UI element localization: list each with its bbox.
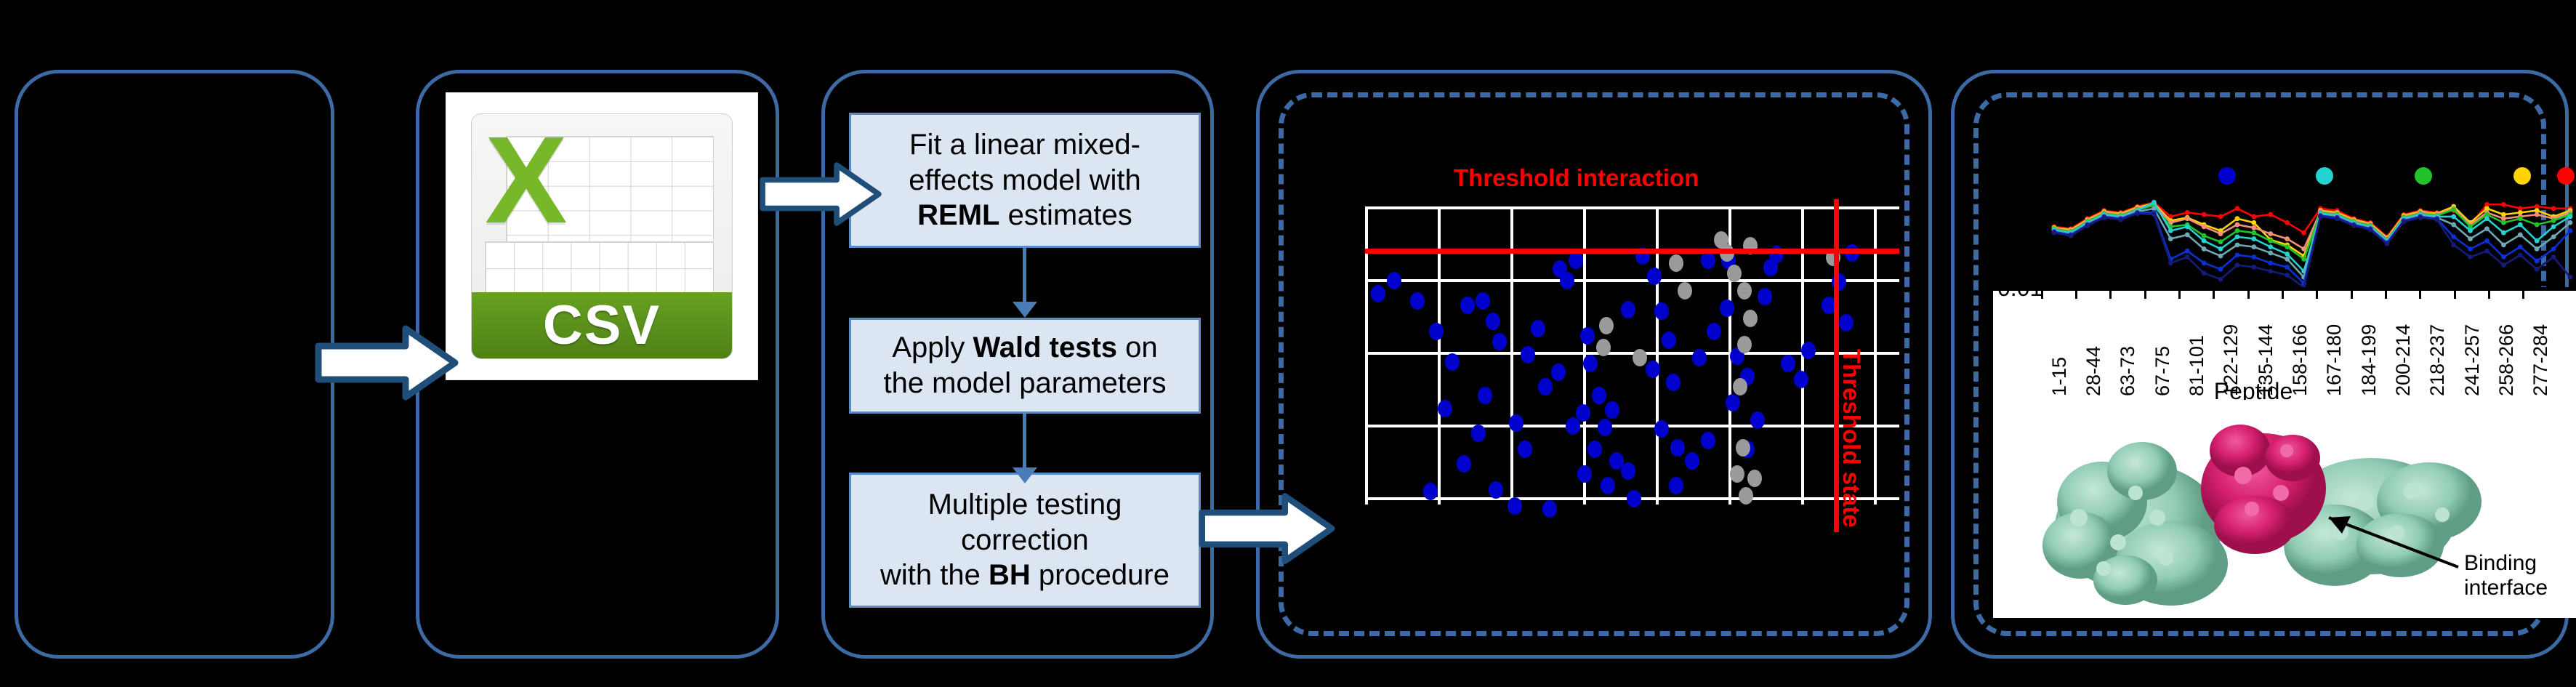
series-point [2235, 234, 2240, 239]
series-point [2551, 218, 2556, 223]
scatter-point-ns [1669, 254, 1683, 272]
peptide-line-chart [2024, 185, 2576, 291]
scatter-point [1387, 272, 1401, 289]
step3-line3-prefix: with the [880, 559, 989, 591]
series-point [2251, 244, 2256, 249]
peptide-label: 241-257 [2461, 324, 2484, 396]
scatter-point [1371, 285, 1385, 302]
scatter-point [1801, 342, 1816, 359]
series-point [2268, 260, 2273, 265]
scatter-point [1654, 302, 1669, 320]
series-point [2568, 228, 2573, 233]
peptide-tick [2247, 287, 2250, 299]
peptide-tick [2109, 287, 2112, 299]
series-point [2285, 265, 2290, 270]
step1-line1: Fit a linear mixed- [909, 129, 1140, 161]
series-point [2202, 260, 2207, 265]
scatter-point-ns [1737, 336, 1752, 353]
legend-dot-1 [2316, 167, 2333, 185]
scatter-point [1438, 400, 1452, 417]
scatter-point-ns [1599, 317, 1614, 334]
peptide-tick [2075, 287, 2077, 299]
series-point [2301, 230, 2306, 236]
threshold-state-line [1834, 199, 1839, 532]
peptide-tick [2454, 287, 2456, 299]
series-point [2368, 228, 2373, 233]
series-point [2202, 233, 2207, 238]
series-point [2535, 238, 2540, 244]
series-point [2451, 207, 2456, 212]
series-point [2268, 269, 2273, 274]
series-point [2285, 236, 2290, 241]
scatter-point-ns [1747, 470, 1762, 487]
series-point [2101, 215, 2106, 220]
series-point [2235, 242, 2240, 247]
scatter-point-ns [1737, 282, 1752, 300]
series-point [2218, 267, 2223, 272]
csv-file-icon: X CSV [446, 93, 757, 379]
series-point [2518, 233, 2523, 238]
series-point [2501, 202, 2506, 207]
scatter-point [1429, 323, 1444, 340]
scatter-point [1583, 355, 1598, 372]
scatter-point [1598, 419, 1612, 436]
binding-interface-line2: interface [2464, 576, 2548, 600]
peptide-tick [2282, 287, 2284, 299]
scatter-point [1763, 259, 1778, 276]
binding-interface-line1: Binding [2464, 551, 2548, 576]
series-point [2202, 238, 2207, 244]
scatter-point [1577, 465, 1592, 483]
series-point [2451, 242, 2456, 247]
peptide-label: 218-237 [2426, 324, 2449, 396]
scatter-point [1457, 455, 1471, 473]
csv-icon-body: X CSV [471, 113, 733, 360]
series-point [2268, 212, 2273, 217]
peptide-label: 63-73 [2117, 346, 2139, 396]
scatter-point [1720, 300, 1734, 317]
series-point [2518, 244, 2523, 249]
peptide-tick [2144, 287, 2146, 299]
csv-format-label: CSV [543, 294, 661, 357]
series-point [2535, 246, 2540, 252]
workflow-diagram: X CSV Fit a linear mixed- effects model … [0, 0, 2576, 687]
series-point [2551, 234, 2556, 239]
protein-structure-card: Binding interface [1993, 400, 2576, 618]
scatter-point [1566, 417, 1580, 435]
scatter-point [1666, 374, 1681, 391]
series-point [2535, 267, 2540, 272]
series-point [2468, 228, 2473, 233]
step2-line2: the model parameters [883, 367, 1166, 399]
scatter-point-ns [1727, 265, 1742, 282]
legend-dot-3 [2513, 167, 2531, 185]
scatter-point [1410, 292, 1425, 310]
step3-line1: Multiple testing [928, 489, 1122, 521]
series-point [2268, 251, 2273, 256]
series-point [2218, 231, 2223, 236]
series-point [2318, 214, 2323, 220]
step-wald-tests-box[interactable]: Apply Wald tests on the model parameters [849, 318, 1201, 414]
series-point [2251, 230, 2256, 236]
peptide-tick [2351, 287, 2353, 299]
csv-format-band: CSV [472, 292, 732, 358]
series-point [2268, 238, 2273, 244]
scatter-point [1460, 297, 1475, 314]
peptide-tick [2316, 287, 2318, 299]
connector-2-arrowhead [1013, 467, 1037, 483]
excel-x-glyph: X [485, 118, 567, 242]
series-point [2168, 228, 2173, 233]
scatter-point-ns [1743, 310, 1758, 327]
series-point [2202, 246, 2207, 252]
series-point [2251, 225, 2256, 230]
series-point [2451, 214, 2456, 220]
series-point [2235, 262, 2240, 268]
scatter-point [1627, 490, 1641, 507]
series-point [2535, 222, 2540, 228]
series-point [2251, 220, 2256, 225]
series-point [2535, 259, 2540, 264]
scatter-point [1478, 387, 1492, 404]
series-point [2268, 231, 2273, 236]
panel-input [15, 70, 334, 659]
series-point [2218, 277, 2223, 282]
series-point [2418, 215, 2423, 220]
scatter-point [1707, 323, 1721, 340]
series-point [2185, 224, 2190, 229]
scatter-point-ns [1733, 378, 1747, 395]
scatter-point [1569, 252, 1583, 269]
legend-dot-2 [2415, 167, 2432, 185]
series-point [2235, 222, 2240, 228]
scatter-point [1508, 497, 1522, 515]
series-point [2235, 206, 2240, 211]
step2-prefix: Apply [892, 332, 973, 363]
series-point [2118, 217, 2123, 222]
series-point [2484, 216, 2490, 221]
series-point [2568, 220, 2573, 225]
peptide-label: 277-284 [2529, 324, 2552, 396]
step1-bold: REML [917, 199, 999, 231]
series-point [2185, 249, 2190, 254]
series-point [2518, 222, 2523, 228]
scatter-point [1551, 363, 1566, 381]
protein-chain-left [2042, 442, 2228, 606]
step-bh-correction-box[interactable]: Multiple testing correction with the BH … [849, 473, 1201, 608]
series-point [2185, 233, 2190, 238]
series-point [2235, 216, 2240, 221]
connector-1-arrowhead [1013, 302, 1037, 318]
series-point [2285, 244, 2290, 249]
series-point [2501, 254, 2506, 260]
series-point [2568, 214, 2573, 220]
step3-bold: BH [989, 559, 1031, 591]
scatter-point [1521, 346, 1535, 363]
peptide-tick [2488, 287, 2490, 299]
series-point [2385, 241, 2390, 246]
series-point [2152, 200, 2157, 205]
series-point [2434, 217, 2439, 222]
peptide-chart-svg [2024, 185, 2576, 291]
scatter-point [1471, 425, 1486, 442]
scatter-point [1553, 260, 1567, 278]
series-point [2484, 238, 2490, 244]
series-point [2501, 230, 2506, 236]
scatter-point [1518, 441, 1532, 458]
peptide-tick [2213, 287, 2215, 299]
scatter-point [1621, 462, 1635, 480]
scatter-point [1669, 477, 1683, 494]
series-point [2551, 246, 2556, 252]
scatter-point [1839, 314, 1853, 332]
scatter-point [1531, 320, 1545, 337]
series-point [2235, 252, 2240, 257]
series-point [2451, 234, 2456, 239]
scatter-point [1423, 483, 1438, 500]
peptide-tick [2385, 287, 2387, 299]
peptide-tick [2419, 287, 2421, 299]
scatter-point [1605, 401, 1619, 419]
series-point [2285, 273, 2290, 278]
series-point [2185, 216, 2190, 221]
scatter-point [1758, 288, 1772, 305]
series-point [2168, 236, 2173, 241]
legend-dot-0 [2218, 167, 2236, 185]
threshold-state-label: Threshold state [1838, 349, 1865, 528]
peptide-label: 1-15 [2048, 357, 2071, 396]
peptide-label: 258-266 [2495, 324, 2518, 396]
series-point [2484, 226, 2490, 231]
series-point [2402, 219, 2407, 224]
series-point [2235, 228, 2240, 233]
series-point [2152, 212, 2157, 217]
peptide-label: 200-214 [2392, 324, 2415, 396]
series-point [2268, 244, 2273, 249]
threshold-interaction-label: Threshold interaction [1454, 164, 1699, 192]
series-point [2551, 224, 2556, 229]
series-point [2501, 220, 2506, 225]
binding-interface-label: Binding interface [2464, 551, 2548, 600]
series-point [2135, 211, 2140, 216]
series-point [2218, 239, 2223, 244]
scatter-point [1492, 333, 1507, 350]
series-point [2468, 236, 2473, 241]
series-point [2202, 224, 2207, 229]
series-point [2202, 212, 2207, 217]
step1-line2: effects model with [909, 164, 1140, 196]
series-point [2251, 265, 2256, 270]
arrow-data-to-stats [759, 154, 882, 234]
series-point [2218, 246, 2223, 252]
step2-suffix: on [1117, 332, 1158, 363]
series-point [2551, 254, 2556, 260]
scatter-point-ns [1739, 487, 1753, 505]
series-point [2335, 216, 2340, 221]
series-point [2468, 254, 2473, 260]
step2-bold: Wald tests [973, 332, 1118, 363]
series-point [2251, 214, 2256, 220]
series-point [2568, 275, 2573, 280]
scatter-point [1592, 387, 1606, 404]
series-point [2285, 220, 2290, 225]
scatter-point [1654, 420, 1669, 438]
scatter-point [1647, 268, 1662, 285]
threshold-interaction-line [1365, 249, 1899, 254]
series-point [2451, 222, 2456, 228]
scatter-point [1538, 378, 1553, 395]
peptide-ytick-label: 0.01 [1997, 275, 2042, 302]
series-point [2085, 223, 2090, 228]
scatter-point [1662, 332, 1676, 349]
peptide-tick [2522, 287, 2524, 299]
scatter-point [1576, 404, 1590, 422]
step1-tail: estimates [1000, 199, 1132, 231]
arrow-input-to-data [314, 323, 459, 403]
scatter-point [1476, 292, 1490, 310]
series-point [2185, 254, 2190, 260]
scatter-point [1489, 481, 1503, 499]
scatter-point [1794, 371, 1808, 388]
series-point [2484, 249, 2490, 254]
series-point [2468, 246, 2473, 252]
scatter-point [1726, 394, 1740, 411]
scatter-point [1701, 252, 1715, 269]
series-point [2535, 212, 2540, 217]
series-point [2518, 216, 2523, 221]
step-fit-model-box[interactable]: Fit a linear mixed- effects model with R… [849, 113, 1201, 248]
step3-line3-suffix: procedure [1031, 559, 1170, 591]
scatter-point [1750, 411, 1765, 429]
connector-2 [1023, 414, 1026, 470]
step3-line2: correction [961, 524, 1089, 556]
volcano-plot [1365, 206, 1899, 505]
connector-1 [1023, 248, 1026, 305]
arrow-stats-to-volcano [1198, 489, 1336, 569]
series-point [2501, 242, 2506, 247]
series-point [2168, 260, 2173, 265]
scatter-point [1580, 327, 1595, 345]
series-point [2218, 254, 2223, 259]
peptide-tick [2178, 287, 2181, 299]
scatter-point [1670, 439, 1685, 457]
scatter-point-ns [1730, 465, 1744, 483]
series-point [2251, 254, 2256, 260]
series-point [2069, 233, 2074, 238]
scatter-point [1587, 441, 1602, 458]
series-point [2551, 206, 2556, 211]
scatter-point-ns [1633, 349, 1647, 366]
scatter-point [1685, 452, 1699, 470]
series-point [2251, 236, 2256, 241]
peptide-label: 28-44 [2082, 346, 2105, 396]
series-point [2351, 223, 2356, 228]
scatter-point-ns [1678, 282, 1692, 300]
legend-dot-4 [2557, 167, 2575, 185]
series-point [2285, 257, 2290, 262]
scatter-point-ns [1736, 439, 1750, 457]
series-point [2202, 270, 2207, 276]
series-point [2301, 246, 2306, 252]
scatter-point [1646, 361, 1660, 378]
scatter-point [1701, 432, 1715, 449]
scatter-point [1509, 414, 1524, 432]
scatter-point [1692, 349, 1707, 366]
series-point [2518, 252, 2523, 257]
scatter-point [1601, 477, 1615, 494]
scatter-point [1486, 313, 1500, 330]
scatter-point [1445, 353, 1460, 371]
series-line [2054, 209, 2570, 278]
series-point [2501, 262, 2506, 268]
scatter-point-ns [1596, 339, 1611, 356]
series-point [2052, 230, 2057, 236]
series-point [2185, 210, 2190, 215]
scatter-point [1781, 355, 1795, 372]
series-point [2285, 252, 2290, 257]
series-point [2301, 257, 2306, 262]
scatter-point [1542, 500, 1557, 518]
series-point [2218, 214, 2223, 220]
scatter-point [1621, 301, 1635, 318]
